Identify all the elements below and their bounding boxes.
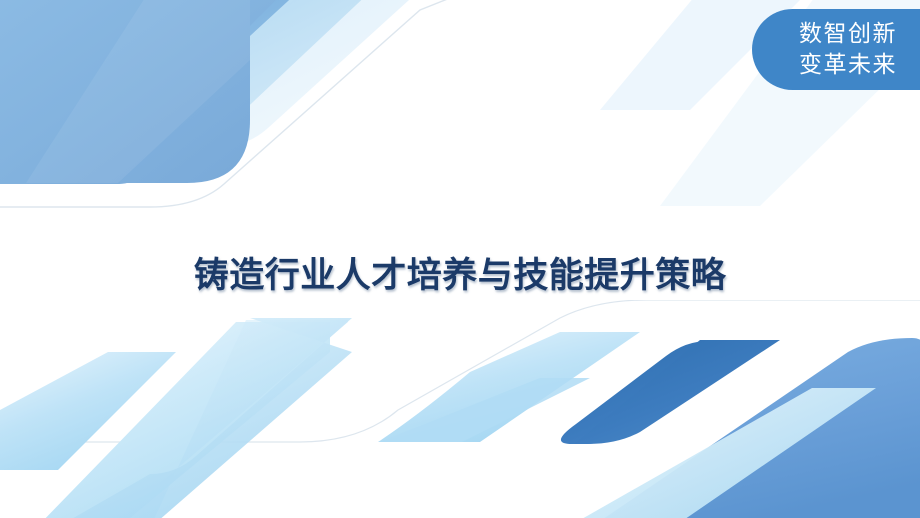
tagline-line-2: 变革未来 — [799, 50, 897, 81]
tagline-line-1: 数智创新 — [799, 19, 897, 50]
presentation-slide: 数智创新 变革未来 铸造行业人才培养与技能提升策略 — [0, 0, 920, 518]
bottom-decoration-group — [0, 300, 920, 518]
tagline-badge: 数智创新 变革未来 — [752, 9, 920, 90]
